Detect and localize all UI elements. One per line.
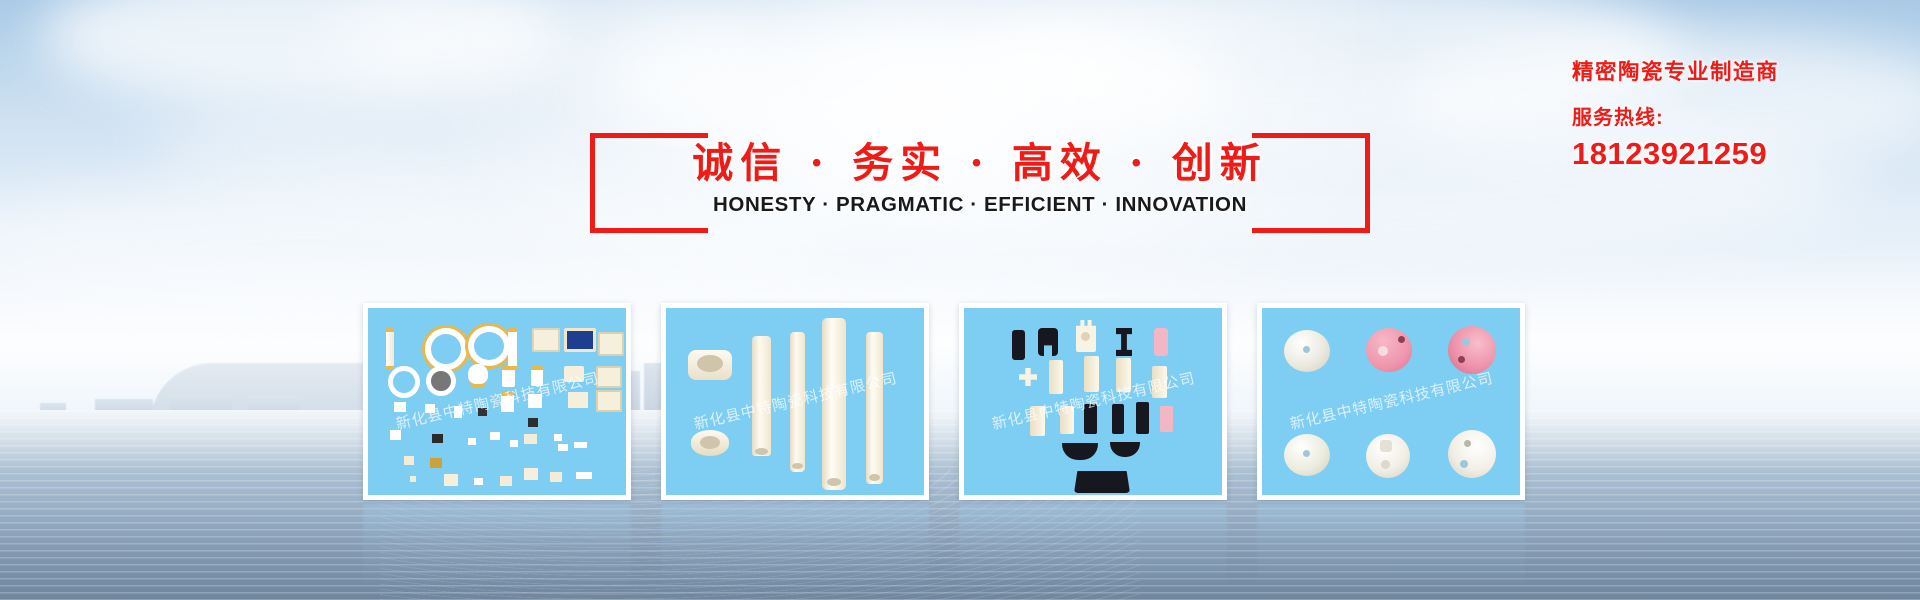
product-image-1: 新化县中特陶瓷科技有限公司: [368, 308, 626, 495]
product-image-2: 新化县中特陶瓷科技有限公司: [666, 308, 924, 495]
product-panel-3[interactable]: 新化县中特陶瓷科技有限公司: [959, 303, 1227, 500]
reflection: [959, 503, 1227, 589]
slogan-block: 诚信 · 务实 · 高效 · 创新 HONESTY · PRAGMATIC · …: [590, 133, 1370, 238]
hotline-number[interactable]: 18123921259: [1572, 136, 1872, 172]
slogan-english: HONESTY · PRAGMATIC · EFFICIENT · INNOVA…: [590, 193, 1370, 217]
hotline-label: 服务热线:: [1572, 101, 1872, 130]
panel-reflections: [363, 503, 1558, 589]
product-gallery: 新化县中特陶瓷科技有限公司 新化县中特陶瓷科技有限公司: [363, 303, 1558, 500]
banner-stage: 诚信 · 务实 · 高效 · 创新 HONESTY · PRAGMATIC · …: [0, 0, 1920, 600]
product-image-4: 新化县中特陶瓷科技有限公司: [1262, 308, 1520, 495]
product-panel-1[interactable]: 新化县中特陶瓷科技有限公司: [363, 303, 631, 500]
reflection: [363, 503, 631, 589]
contact-block: 精密陶瓷专业制造商 服务热线: 18123921259: [1572, 55, 1872, 172]
manufacturer-tagline: 精密陶瓷专业制造商: [1572, 55, 1872, 86]
slogan-chinese: 诚信 · 务实 · 高效 · 创新: [590, 129, 1370, 189]
reflection: [1257, 503, 1525, 589]
product-panel-4[interactable]: 新化县中特陶瓷科技有限公司: [1257, 303, 1525, 500]
product-panel-2[interactable]: 新化县中特陶瓷科技有限公司: [661, 303, 929, 500]
product-image-3: 新化县中特陶瓷科技有限公司: [964, 308, 1222, 495]
reflection: [661, 503, 929, 589]
